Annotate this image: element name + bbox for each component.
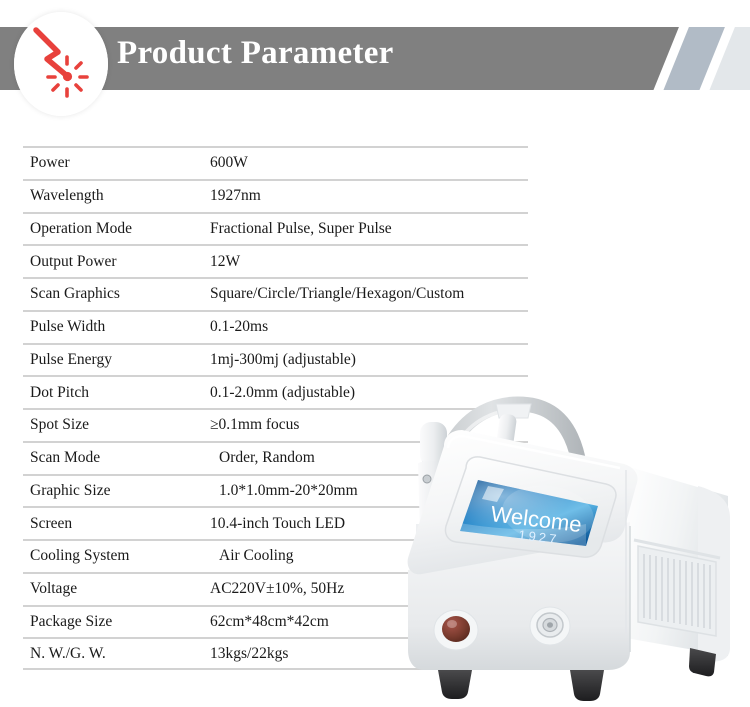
table-row: Scan Graphics Square/Circle/Triangle/Hex… — [23, 277, 528, 310]
table-row: Wavelength 1927nm — [23, 179, 528, 212]
spec-label: Spot Size — [30, 416, 89, 434]
spec-value: AC220V±10%, 50Hz — [210, 580, 344, 598]
spec-value: 12W — [210, 253, 240, 271]
spec-label: Scan Mode — [30, 449, 100, 467]
spec-value: 1927nm — [210, 187, 261, 205]
product-machine-image: Welcome 1927 — [398, 318, 750, 707]
spec-label: Package Size — [30, 613, 112, 631]
spec-label: Power — [30, 154, 70, 172]
spec-label: Scan Graphics — [30, 285, 120, 303]
table-row: Output Power 12W — [23, 244, 528, 277]
connector-port — [530, 607, 570, 645]
spec-value: Square/Circle/Triangle/Hexagon/Custom — [210, 285, 464, 303]
spec-label: Output Power — [30, 253, 117, 271]
spec-value: 1.0*1.0mm-20*20mm — [219, 482, 358, 500]
emergency-stop-button — [434, 610, 478, 650]
spec-value: 1mj-300mj (adjustable) — [210, 351, 356, 369]
spec-label: N. W./G. W. — [30, 645, 106, 663]
spec-value: 0.1-2.0mm (adjustable) — [210, 384, 355, 402]
spec-label: Screen — [30, 515, 72, 533]
spec-value: 62cm*48cm*42cm — [210, 613, 329, 631]
spec-value: Air Cooling — [219, 547, 294, 565]
product-parameter-page: Product Parameter Power 600W Wavelength … — [0, 0, 750, 707]
spec-label: Cooling System — [30, 547, 129, 565]
table-row: Power 600W — [23, 146, 528, 179]
spec-value: 600W — [210, 154, 248, 172]
spec-value: 13kgs/22kgs — [210, 645, 288, 663]
spec-label: Graphic Size — [30, 482, 110, 500]
spec-label: Pulse Width — [30, 318, 105, 336]
spec-label: Wavelength — [30, 187, 104, 205]
spec-value: ≥0.1mm focus — [210, 416, 299, 434]
spec-value: Fractional Pulse, Super Pulse — [210, 220, 392, 238]
spec-label: Pulse Energy — [30, 351, 112, 369]
spec-label: Voltage — [30, 580, 77, 598]
spec-value: 0.1-20ms — [210, 318, 268, 336]
ventilation-grille — [634, 540, 720, 636]
laser-impact-icon — [14, 12, 108, 116]
spec-label: Operation Mode — [30, 220, 132, 238]
table-row: Operation Mode Fractional Pulse, Super P… — [23, 212, 528, 245]
machine-foot-left — [438, 670, 472, 699]
spec-label: Dot Pitch — [30, 384, 89, 402]
spec-value: Order, Random — [219, 449, 315, 467]
page-title: Product Parameter — [117, 35, 394, 72]
spec-value: 10.4-inch Touch LED — [210, 515, 345, 533]
machine-foot-center — [570, 670, 604, 701]
